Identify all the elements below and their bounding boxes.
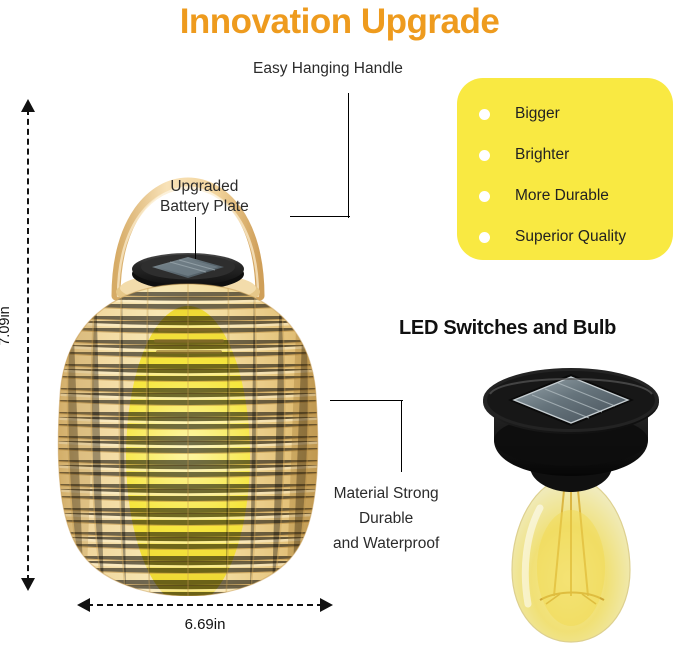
callout-upgraded-battery-plate: Upgraded Battery Plate [160, 177, 249, 217]
feature-label: Bigger [515, 105, 560, 123]
dimension-arrow-vertical-icon [27, 100, 29, 590]
callout-material-strong-durable-waterproof: Material Strong Durable and Waterproof [333, 481, 439, 556]
leader-line-battery-vertical [195, 217, 196, 259]
feature-label: Brighter [515, 146, 569, 164]
leader-line-material-vertical [401, 400, 402, 472]
feature-item-bigger: Bigger [479, 103, 663, 125]
dimension-height-label: 7.09in [0, 295, 13, 357]
dimension-arrow-horizontal-icon [78, 604, 332, 606]
arrow-head-down-icon [21, 578, 35, 591]
leader-line-handle-horizontal [290, 216, 350, 217]
bullet-dot-icon [479, 150, 490, 161]
dimension-width-label: 6.69in [78, 616, 332, 633]
dimension-shaft [87, 604, 323, 606]
dimension-shaft [27, 109, 29, 581]
led-solar-cap-and-bulb-image [468, 358, 673, 646]
page-title: Innovation Upgrade [0, 0, 679, 44]
feature-item-more-durable: More Durable [479, 185, 663, 207]
leader-line-handle-vertical [348, 93, 349, 218]
feature-label: More Durable [515, 187, 609, 205]
feature-item-superior-quality: Superior Quality [479, 226, 663, 248]
led-section-heading: LED Switches and Bulb [399, 317, 616, 340]
feature-item-brighter: Brighter [479, 144, 663, 166]
leader-line-material-horizontal [330, 400, 403, 401]
bullet-dot-icon [479, 191, 490, 202]
rattan-solar-lantern-image [38, 96, 338, 596]
feature-highlights-card: Bigger Brighter More Durable Superior Qu… [457, 78, 673, 260]
bullet-dot-icon [479, 232, 490, 243]
feature-label: Superior Quality [515, 228, 626, 246]
arrow-head-right-icon [320, 598, 333, 612]
bullet-dot-icon [479, 109, 490, 120]
infographic-canvas: Innovation Upgrade [0, 0, 679, 650]
callout-easy-hanging-handle: Easy Hanging Handle [253, 59, 403, 79]
